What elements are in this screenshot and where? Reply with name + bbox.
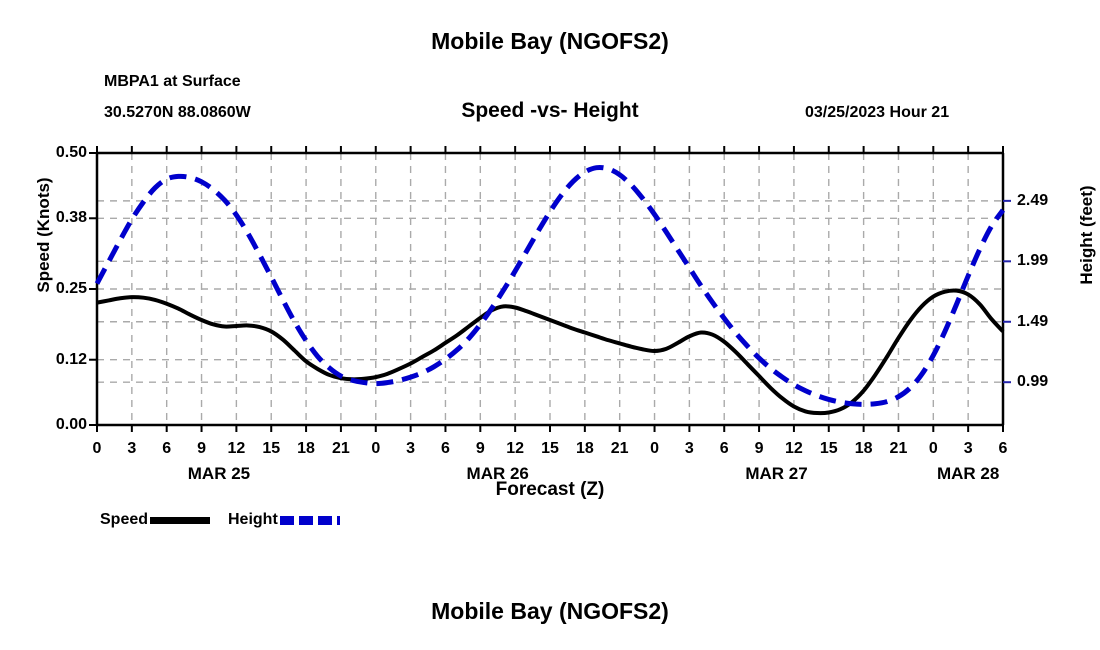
chart-figure: Mobile Bay (NGOFS2) MBPA1 at Surface 30.… [0,0,1100,650]
legend-item-height: Height [228,508,340,532]
plot-area [0,0,1100,650]
legend-label: Speed [100,511,148,529]
legend-swatch-solid [150,517,210,524]
chart-title-bottom: Mobile Bay (NGOFS2) [0,598,1100,625]
legend-item-speed: Speed [100,508,210,532]
legend-label: Height [228,511,278,529]
legend-swatch-dashed [280,516,340,525]
